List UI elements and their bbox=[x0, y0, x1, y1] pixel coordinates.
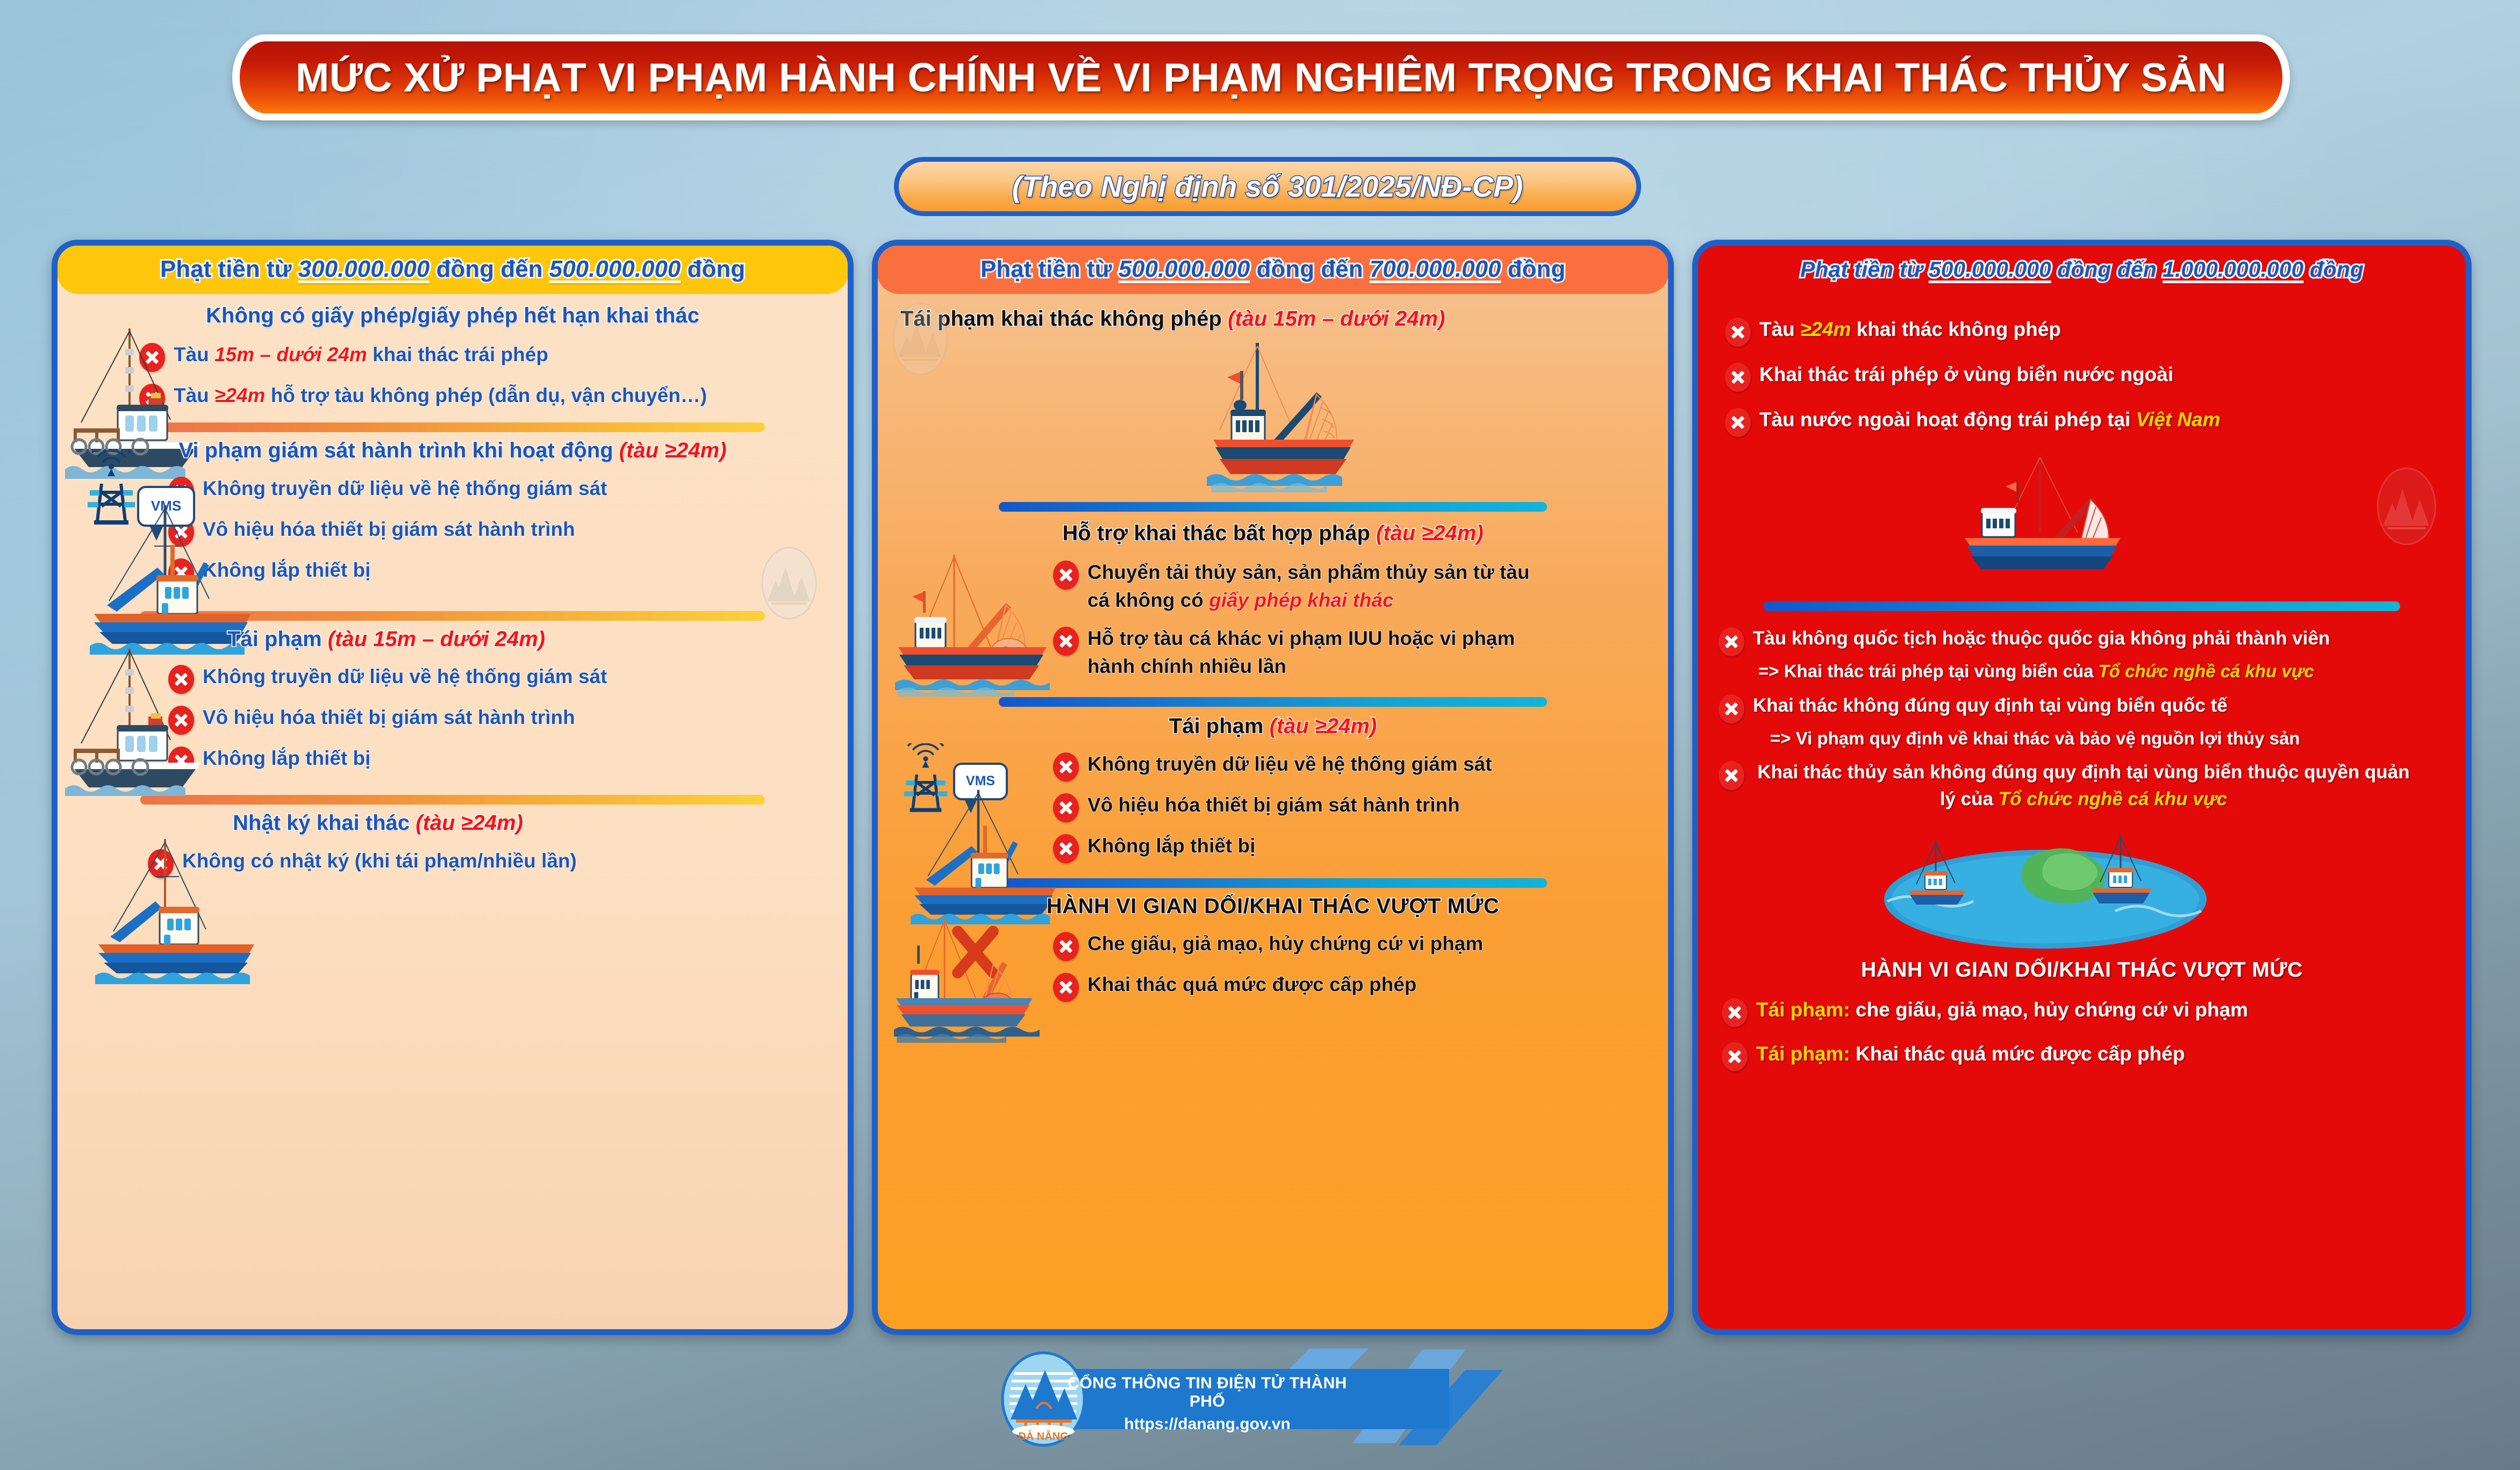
cross-icon bbox=[1722, 1042, 1748, 1071]
head-amount-to: 1.000.000.000 bbox=[2163, 257, 2303, 282]
list-item: Tàu ≥24m khai thác không phép bbox=[1725, 315, 2452, 347]
divider-5 bbox=[999, 697, 1548, 707]
c3-b2-text: Tái phạm: Khai thác quá mức được cấp phé… bbox=[1756, 1040, 2185, 1069]
c1-s2-bullets: Không truyền dữ liệu về hệ thống giám sá… bbox=[168, 475, 834, 587]
title-main: Tái phạm bbox=[1169, 714, 1270, 738]
cross-icon bbox=[1719, 761, 1744, 790]
text-pre: Tàu nước ngoài hoạt động trái phép tại bbox=[1759, 408, 2136, 431]
fishing-boat-illustration-9 bbox=[1916, 452, 2147, 586]
head-suffix: đồng bbox=[2303, 257, 2364, 282]
column-1-header: Phạt tiền từ 300.000.000 đồng đến 500.00… bbox=[56, 245, 849, 294]
title-note: (tàu ≥24m) bbox=[619, 439, 727, 462]
head-mid: đồng đến bbox=[429, 256, 549, 282]
penalty-column-1: Phạt tiền từ 300.000.000 đồng đến 500.00… bbox=[52, 240, 854, 1335]
divider-2 bbox=[140, 611, 765, 621]
head-prefix: Phạt tiền từ bbox=[980, 256, 1119, 282]
fishing-boat-illustration-8 bbox=[894, 915, 1066, 1049]
head-mid: đồng đến bbox=[1250, 256, 1369, 282]
list-item: Khai thác không đúng quy định tại vùng b… bbox=[1719, 692, 2452, 723]
c1-s3-b1-text: Không truyền dữ liệu về hệ thống giám sá… bbox=[203, 663, 607, 691]
c1-s3-title: Tái phạm (tàu 15m – dưới 24m) bbox=[71, 627, 834, 651]
penalty-column-3: Phạt tiền từ 500.000.000 đồng đến 1.000.… bbox=[1692, 240, 2472, 1335]
c1-s2-b1-text: Không truyền dữ liệu về hệ thống giám sá… bbox=[203, 475, 607, 503]
text-emphasis: Việt Nam bbox=[2136, 408, 2221, 431]
title-note: (tàu 15m – dưới 24m) bbox=[328, 627, 545, 651]
c3-m1-sub: => Khai thác trái phép tại vùng biển của… bbox=[1758, 659, 2452, 684]
badge-label: Tái phạm: bbox=[1756, 1043, 1850, 1065]
cross-icon bbox=[168, 706, 194, 735]
list-item: Tái phạm: Khai thác quá mức được cấp phé… bbox=[1722, 1040, 2452, 1071]
c1-s3-bullets: Không truyền dữ liệu về hệ thống giám sá… bbox=[168, 663, 834, 776]
text-post: hỗ trợ tàu không phép (dẫn dụ, vận chuyể… bbox=[265, 384, 707, 406]
text-pre: Tàu bbox=[1759, 318, 1800, 340]
column-3-header: Phạt tiền từ 500.000.000 đồng đến 1.000.… bbox=[1697, 245, 2467, 294]
c3-m2-text: Khai thác không đúng quy định tại vùng b… bbox=[1753, 692, 2228, 719]
c3-mid-bullets: Tàu không quốc tịch hoặc thuộc quốc gia … bbox=[1719, 625, 2452, 812]
list-item: Vô hiệu hóa thiết bị giám sát hành trình bbox=[168, 704, 834, 735]
text-emphasis: 15m – dưới 24m bbox=[214, 343, 367, 365]
cross-icon bbox=[168, 558, 194, 587]
c1-s3-b3-text: Không lắp thiết bị bbox=[203, 744, 370, 773]
cross-icon bbox=[1053, 834, 1079, 863]
list-item: Chuyển tải thủy sản, sản phẩm thủy sản t… bbox=[1053, 558, 1654, 615]
cross-icon bbox=[139, 343, 165, 372]
list-item: Hỗ trợ tàu cá khác vi phạm IUU hoặc vi p… bbox=[1053, 625, 1654, 681]
column-3-header-text: Phạt tiền từ 500.000.000 đồng đến 1.000.… bbox=[1800, 257, 2364, 282]
c1-section-1: Không có giấy phép/giấy phép hết hạn kha… bbox=[71, 298, 834, 413]
list-item: Tàu nước ngoài hoạt động trái phép tại V… bbox=[1725, 406, 2452, 437]
head-prefix: Phạt tiền từ bbox=[1800, 257, 1929, 282]
c2-section-1: Tái phạm khai thác không phép (tàu 15m –… bbox=[892, 298, 1654, 494]
c2-s3-b3-text: Không lắp thiết bị bbox=[1087, 832, 1255, 861]
footer-line-2: https://danang.gov.vn bbox=[1057, 1415, 1358, 1433]
c1-s3-b2-text: Vô hiệu hóa thiết bị giám sát hành trình bbox=[203, 704, 575, 732]
c2-s4-bullets: Che giấu, giả mạo, hủy chứng cứ vi phạm … bbox=[1053, 930, 1654, 1002]
column-3-body: Tàu ≥24m khai thác không phép Khai thác … bbox=[1698, 294, 2466, 1328]
list-item: Không lắp thiết bị bbox=[168, 744, 834, 776]
column-2-header: Phạt tiền từ 500.000.000 đồng đến 700.00… bbox=[877, 245, 1669, 294]
fishing-boat-illustration-5 bbox=[1155, 339, 1392, 500]
vms-callout-2: VMS bbox=[953, 763, 1015, 812]
c2-s1-title: Tái phạm khai thác không phép (tàu 15m –… bbox=[892, 307, 1654, 331]
text-emphasis: giấy phép khai thác bbox=[1209, 589, 1393, 611]
head-amount-to: 700.000.000 bbox=[1370, 256, 1501, 282]
c2-s3-bullets: Không truyền dữ liệu về hệ thống giám sá… bbox=[1053, 750, 1654, 863]
cross-icon bbox=[1719, 694, 1744, 723]
cross-icon bbox=[148, 849, 174, 878]
c1-section-3: Tái phạm (tàu 15m – dưới 24m) Không truy… bbox=[71, 627, 834, 776]
c3-art-2 bbox=[1712, 822, 2452, 956]
vms-antenna-icon-2 bbox=[896, 743, 955, 819]
c3-bottom-title: HÀNH VI GIAN DỐI/KHAI THÁC VƯỢT MỨC bbox=[1712, 958, 2452, 982]
c2-s4-b1-text: Che giấu, giả mạo, hủy chứng cứ vi phạm bbox=[1087, 930, 1483, 958]
text-emphasis: ≥24m bbox=[1800, 318, 1851, 340]
subtitle-text: (Theo Nghị định số 301/2025/NĐ-CP) bbox=[1012, 169, 1523, 204]
c2-s2-b2-text: Hỗ trợ tàu cá khác vi phạm IUU hoặc vi p… bbox=[1087, 625, 1550, 681]
c2-section-3: Tái phạm (tàu ≥24m) Không truyền dữ liệu… bbox=[892, 714, 1654, 863]
sub-arrow-text: => Khai thác trái phép tại vùng biển của bbox=[1758, 661, 2099, 681]
cross-icon bbox=[1725, 318, 1751, 347]
title-main: Tái phạm khai thác không phép bbox=[900, 307, 1228, 331]
c3-t2-text: Khai thác trái phép ở vùng biển nước ngo… bbox=[1759, 361, 2173, 389]
cross-icon bbox=[1053, 627, 1079, 656]
list-item: Không truyền dữ liệu về hệ thống giám sá… bbox=[168, 663, 834, 694]
c2-s2-bullets: Chuyển tải thủy sản, sản phẩm thủy sản t… bbox=[1053, 558, 1654, 681]
footer-text: CỔNG THÔNG TIN ĐIỆN TỬ THÀNH PHỐ https:/… bbox=[1057, 1374, 1358, 1433]
divider-4 bbox=[999, 502, 1548, 512]
subtitle-banner: (Theo Nghị định số 301/2025/NĐ-CP) bbox=[894, 157, 1641, 216]
title-note: (tàu ≥24m) bbox=[416, 811, 523, 835]
cross-icon bbox=[168, 665, 194, 694]
head-suffix: đồng bbox=[681, 256, 745, 282]
c2-section-2: Hỗ trợ khai thác bất hợp pháp (tàu ≥24m)… bbox=[892, 521, 1654, 681]
c3-bottom-section: HÀNH VI GIAN DỐI/KHAI THÁC VƯỢT MỨC Tái … bbox=[1712, 958, 2452, 1071]
c1-s2-b3-text: Không lắp thiết bị bbox=[203, 556, 370, 585]
c1-s4-title: Nhật ký khai thác (tàu ≥24m) bbox=[71, 811, 834, 835]
cross-icon bbox=[168, 747, 194, 776]
column-2-header-text: Phạt tiền từ 500.000.000 đồng đến 700.00… bbox=[980, 256, 1565, 283]
head-amount-to: 500.000.000 bbox=[549, 256, 681, 282]
cross-icon bbox=[1725, 408, 1751, 437]
footer-line-1: CỔNG THÔNG TIN ĐIỆN TỬ THÀNH PHỐ bbox=[1057, 1374, 1358, 1411]
list-item: Khai thác quá mức được cấp phép bbox=[1053, 971, 1654, 1002]
island-and-boats-illustration bbox=[1873, 819, 2217, 953]
c2-s3-title: Tái phạm (tàu ≥24m) bbox=[892, 714, 1654, 738]
text-post: che giấu, giả mạo, hủy chứng cứ vi phạm bbox=[1850, 999, 2248, 1021]
c1-s1-b1-text: Tàu 15m – dưới 24m khai thác trái phép bbox=[174, 341, 548, 369]
cross-icon bbox=[1053, 973, 1079, 1002]
c2-s1-art bbox=[892, 331, 1654, 494]
title-note: (tàu 15m – dưới 24m) bbox=[1228, 307, 1445, 331]
list-item: Không có nhật ký (khi tái phạm/nhiều lần… bbox=[148, 847, 834, 878]
divider-7 bbox=[1764, 601, 2400, 611]
cross-icon bbox=[1053, 932, 1079, 961]
c2-s3-b1-text: Không truyền dữ liệu về hệ thống giám sá… bbox=[1087, 750, 1492, 779]
c3-top-bullets: Tàu ≥24m khai thác không phép Khai thác … bbox=[1725, 315, 2452, 437]
column-2-body: Tái phạm khai thác không phép (tàu 15m –… bbox=[878, 294, 1668, 1328]
list-item: Che giấu, giả mạo, hủy chứng cứ vi phạm bbox=[1053, 930, 1654, 961]
text-post: Khai thác quá mức được cấp phép bbox=[1850, 1043, 2185, 1065]
cross-icon bbox=[1722, 998, 1748, 1027]
page-title: MỨC XỬ PHẠT VI PHẠM HÀNH CHÍNH VỀ VI PHẠ… bbox=[296, 54, 2227, 101]
danang-seal-watermark-3 bbox=[2374, 466, 2439, 547]
c1-s2-title: Vi phạm giám sát hành trình khi hoạt độn… bbox=[71, 439, 834, 463]
cross-icon bbox=[1053, 793, 1079, 822]
list-item: Không lắp thiết bị bbox=[1053, 832, 1654, 863]
fishing-boat-illustration-6 bbox=[895, 551, 1078, 702]
title-main: Tái phạm bbox=[227, 627, 328, 651]
c3-m1-text: Tàu không quốc tịch hoặc thuộc quốc gia … bbox=[1753, 625, 2330, 652]
c1-s1-b2-text: Tàu ≥24m hỗ trợ tàu không phép (dẫn dụ, … bbox=[174, 382, 707, 410]
text-post: khai thác không phép bbox=[1851, 318, 2061, 340]
c3-t3-text: Tàu nước ngoài hoạt động trái phép tại V… bbox=[1759, 406, 2221, 434]
text-pre: Tàu bbox=[174, 343, 214, 365]
text-pre: Tàu bbox=[174, 384, 214, 406]
c3-bottom-bullets: Tái phạm: che giấu, giả mạo, hủy chứng c… bbox=[1722, 996, 2452, 1071]
text-emphasis: ≥24m bbox=[214, 384, 265, 406]
c1-s1-title: Không có giấy phép/giấy phép hết hạn kha… bbox=[71, 304, 834, 328]
c3-b1-text: Tái phạm: che giấu, giả mạo, hủy chứng c… bbox=[1756, 996, 2248, 1024]
cross-icon bbox=[1053, 752, 1079, 781]
head-suffix: đồng bbox=[1501, 256, 1565, 282]
c1-s2-b2-text: Vô hiệu hóa thiết bị giám sát hành trình bbox=[203, 515, 575, 544]
head-amount-from: 500.000.000 bbox=[1929, 257, 2051, 282]
penalty-column-2: Phạt tiền từ 500.000.000 đồng đến 700.00… bbox=[872, 240, 1674, 1335]
c3-m2-sub: => Vi phạm quy định về khai thác và bảo … bbox=[1770, 727, 2452, 751]
divider-6 bbox=[999, 878, 1548, 888]
list-item: Khai thác thủy sản không đúng quy định t… bbox=[1719, 759, 2452, 812]
title-main: Hỗ trợ khai thác bất hợp pháp bbox=[1062, 521, 1376, 545]
list-item: Tàu ≥24m hỗ trợ tàu không phép (dẫn dụ, … bbox=[139, 382, 834, 413]
head-mid: đồng đến bbox=[2051, 257, 2163, 282]
list-item: Vô hiệu hóa thiết bị giám sát hành trình bbox=[1053, 791, 1654, 822]
cross-icon bbox=[1719, 627, 1744, 656]
list-item: Tái phạm: che giấu, giả mạo, hủy chứng c… bbox=[1722, 996, 2452, 1027]
list-item: Vô hiệu hóa thiết bị giám sát hành trình bbox=[168, 515, 834, 547]
column-1-header-text: Phạt tiền từ 300.000.000 đồng đến 500.00… bbox=[160, 256, 745, 283]
text-emphasis: Tổ chức nghề cá khu vực bbox=[1999, 788, 2227, 809]
title-banner-inner: MỨC XỬ PHẠT VI PHẠM HÀNH CHÍNH VỀ VI PHẠ… bbox=[240, 41, 2282, 113]
vms-label-2: VMS bbox=[966, 773, 995, 789]
list-item: Khai thác trái phép ở vùng biển nước ngo… bbox=[1725, 361, 2452, 392]
head-amount-from: 300.000.000 bbox=[298, 256, 430, 282]
title-note: (tàu ≥24m) bbox=[1376, 521, 1484, 545]
sub-arrow-emphasis: Tổ chức nghề cá khu vực bbox=[2099, 661, 2314, 681]
cross-icon bbox=[168, 518, 194, 547]
c1-section-2: Vi phạm giám sát hành trình khi hoạt độn… bbox=[71, 439, 834, 587]
c2-s4-b2-text: Khai thác quá mức được cấp phép bbox=[1087, 971, 1416, 999]
badge-label: Tái phạm: bbox=[1756, 999, 1850, 1021]
title-main: Vi phạm giám sát hành trình khi hoạt độn… bbox=[178, 439, 619, 462]
list-item: Không truyền dữ liệu về hệ thống giám sá… bbox=[168, 475, 834, 506]
c3-m3-text: Khai thác thủy sản không đúng quy định t… bbox=[1753, 759, 2414, 812]
cross-icon bbox=[139, 384, 165, 413]
c1-section-4: Nhật ký khai thác (tàu ≥24m) Không có nh… bbox=[71, 811, 834, 878]
c2-s2-title: Hỗ trợ khai thác bất hợp pháp (tàu ≥24m) bbox=[892, 521, 1654, 546]
column-1-body: Không có giấy phép/giấy phép hết hạn kha… bbox=[58, 294, 848, 1328]
c1-s1-bullets: Tàu 15m – dưới 24m khai thác trái phép T… bbox=[139, 341, 834, 413]
c2-s3-b2-text: Vô hiệu hóa thiết bị giám sát hành trình bbox=[1087, 791, 1460, 820]
title-note: (tàu ≥24m) bbox=[1269, 714, 1377, 738]
c3-t1-text: Tàu ≥24m khai thác không phép bbox=[1759, 315, 2061, 344]
divider-1 bbox=[140, 422, 765, 432]
text-post: khai thác trái phép bbox=[367, 343, 548, 365]
list-item: Tàu 15m – dưới 24m khai thác trái phép bbox=[139, 341, 834, 372]
list-item: Không lắp thiết bị bbox=[168, 556, 834, 587]
list-item: Không truyền dữ liệu về hệ thống giám sá… bbox=[1053, 750, 1654, 781]
head-amount-from: 500.000.000 bbox=[1119, 256, 1250, 282]
c2-section-4: HÀNH VI GIAN DỐI/KHAI THÁC VƯỢT MỨC Che … bbox=[892, 894, 1654, 1002]
c1-s4-b1-text: Không có nhật ký (khi tái phạm/nhiều lần… bbox=[182, 847, 577, 876]
c3-art-1 bbox=[1712, 447, 2452, 597]
head-prefix: Phạt tiền từ bbox=[160, 256, 298, 282]
footer: ĐÀ NẴNG CỔNG THÔNG TIN ĐIỆN TỬ THÀNH PHỐ… bbox=[987, 1346, 1524, 1449]
c2-s4-title: HÀNH VI GIAN DỐI/KHAI THÁC VƯỢT MỨC bbox=[892, 894, 1654, 919]
title-main: Nhật ký khai thác bbox=[233, 811, 416, 835]
divider-3 bbox=[140, 795, 765, 805]
c2-s2-b1-text: Chuyển tải thủy sản, sản phẩm thủy sản t… bbox=[1087, 558, 1550, 615]
cross-icon bbox=[1725, 363, 1751, 392]
c1-s4-bullets: Không có nhật ký (khi tái phạm/nhiều lần… bbox=[148, 847, 834, 878]
cross-icon bbox=[1053, 561, 1079, 590]
cross-icon bbox=[168, 477, 194, 506]
title-banner: MỨC XỬ PHẠT VI PHẠM HÀNH CHÍNH VỀ VI PHẠ… bbox=[232, 34, 2290, 120]
list-item: Tàu không quốc tịch hoặc thuộc quốc gia … bbox=[1719, 625, 2452, 656]
